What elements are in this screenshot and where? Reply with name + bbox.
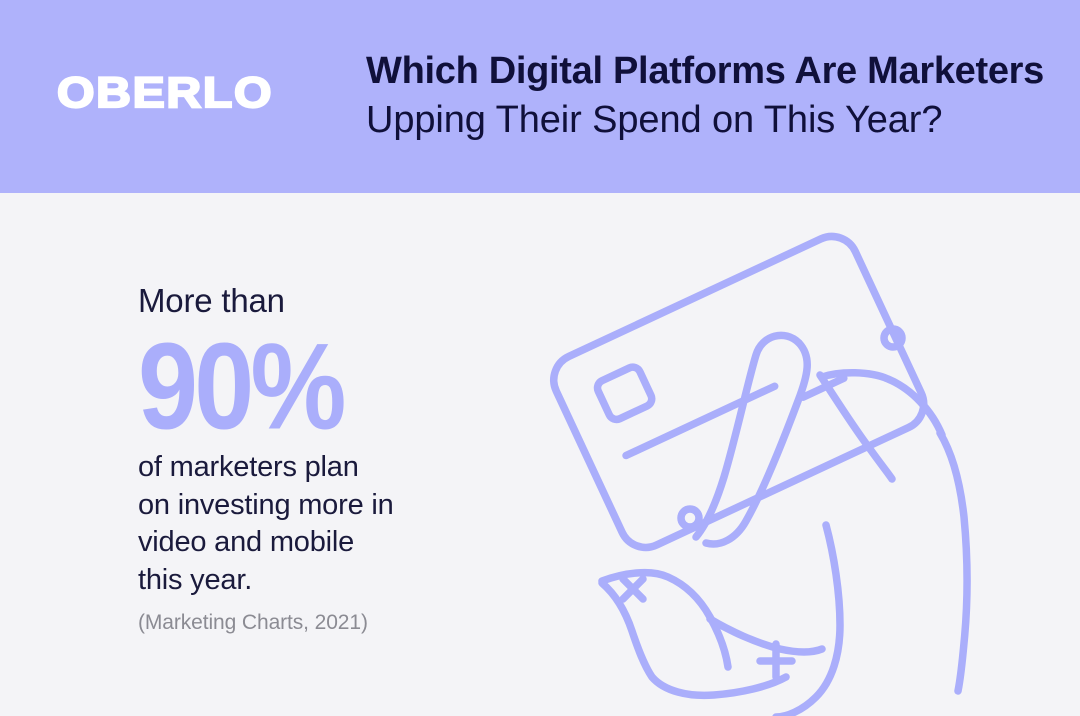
credit-card-outline <box>545 228 932 556</box>
card-chip-icon <box>595 365 654 423</box>
stat-description: of marketers plan on investing more in v… <box>138 449 498 599</box>
statistic-block: More than 90% of marketers plan on inves… <box>138 281 498 636</box>
title-line-1: Which Digital Platforms Are Marketers <box>366 47 1066 95</box>
source-citation: (Marketing Charts, 2021) <box>138 610 498 636</box>
credit-card-hand-icon <box>540 225 1080 716</box>
stat-description-line: this year. <box>138 562 498 600</box>
header-band: OBERLO Which Digital Platforms Are Marke… <box>0 0 1080 193</box>
stat-description-line: video and mobile <box>138 524 498 562</box>
hand-lower-edge <box>776 525 840 716</box>
page-title: Which Digital Platforms Are Marketers Up… <box>366 47 1066 144</box>
stat-value: 90% <box>138 331 473 441</box>
x-mark-icon <box>623 579 643 599</box>
hand-holding-credit-card-illustration <box>540 225 1080 716</box>
stat-description-line: on investing more in <box>138 487 498 525</box>
credit-card <box>545 228 932 556</box>
title-line-2: Upping Their Spend on This Year? <box>366 96 1066 144</box>
hand-back-right-edge <box>940 433 967 691</box>
stat-prefix: More than <box>138 281 498 321</box>
ring-lower-left-icon <box>681 509 699 527</box>
infographic-poster: OBERLO Which Digital Platforms Are Marke… <box>0 0 1080 716</box>
oberlo-logo: OBERLO <box>57 72 273 115</box>
